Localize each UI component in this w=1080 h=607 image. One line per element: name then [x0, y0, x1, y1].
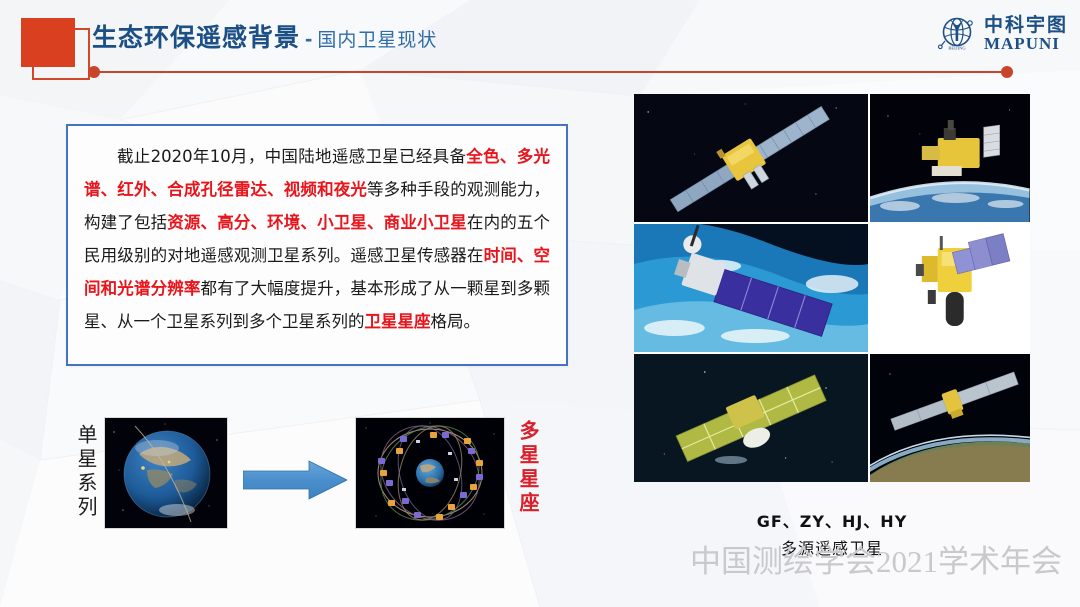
highlighted-term: 卫星星座 [365, 312, 431, 331]
satellite-photo-gf [634, 94, 868, 222]
satellite-constellation-image [356, 418, 504, 528]
highlighted-term: 资源、高分、环境、小卫星、商业小卫星 [167, 213, 467, 232]
brand-logo: BEIJING 中科宇图 MAPUNI [936, 10, 1068, 58]
satellite-photo-grid [634, 94, 1030, 482]
single-satellite-earth-image [105, 418, 227, 528]
description-paragraph: 截止2020年10月，中国陆地遥感卫星已经具备全色、多光谱、红外、合成孔径雷达、… [84, 140, 550, 338]
logo-square-fill [21, 18, 75, 67]
satellite-photo-hj [634, 224, 868, 352]
divider-line [96, 71, 1004, 73]
page-title-sub: 国内卫星现状 [317, 29, 437, 51]
page-title-main: 生态环保遥感背景 [92, 23, 300, 52]
red-square-logo [18, 16, 90, 78]
globe-icon: BEIJING [936, 13, 978, 55]
header-divider [88, 65, 1013, 79]
label-multi-satellite-constellation: 多星星座 [516, 420, 537, 516]
svg-text:BEIJING: BEIJING [948, 46, 966, 51]
paragraph-run: 格局。 [431, 312, 481, 331]
slide-canvas: 生态环保遥感背景-国内卫星现状 BEIJING 中科宇图 MAPUNI 截止20… [0, 0, 1080, 607]
satellite-photo-sar [634, 354, 868, 482]
transition-arrow [243, 459, 347, 501]
satellite-photo-small [870, 354, 1030, 482]
brand-name-en: MAPUNI [984, 35, 1068, 52]
label-single-satellite-series: 单星系列 [74, 424, 95, 520]
grid-caption-line1: GF、ZY、HJ、HY [634, 508, 1030, 532]
satellite-photo-zy [870, 94, 1030, 222]
page-title-dash: - [305, 26, 312, 51]
brand-name-cn: 中科宇图 [984, 16, 1068, 35]
paragraph-run: 截止2020年10月，中国陆地遥感卫星已经具备 [117, 147, 466, 166]
divider-dot-right [1001, 66, 1013, 78]
conference-watermark: 中国测绘学会2021学术年会 [690, 536, 1062, 581]
brand-text: 中科宇图 MAPUNI [984, 16, 1068, 52]
satellite-photo-hy [870, 224, 1030, 352]
description-textbox: 截止2020年10月，中国陆地遥感卫星已经具备全色、多光谱、红外、合成孔径雷达、… [66, 124, 568, 366]
page-title: 生态环保遥感背景-国内卫星现状 [92, 18, 437, 58]
